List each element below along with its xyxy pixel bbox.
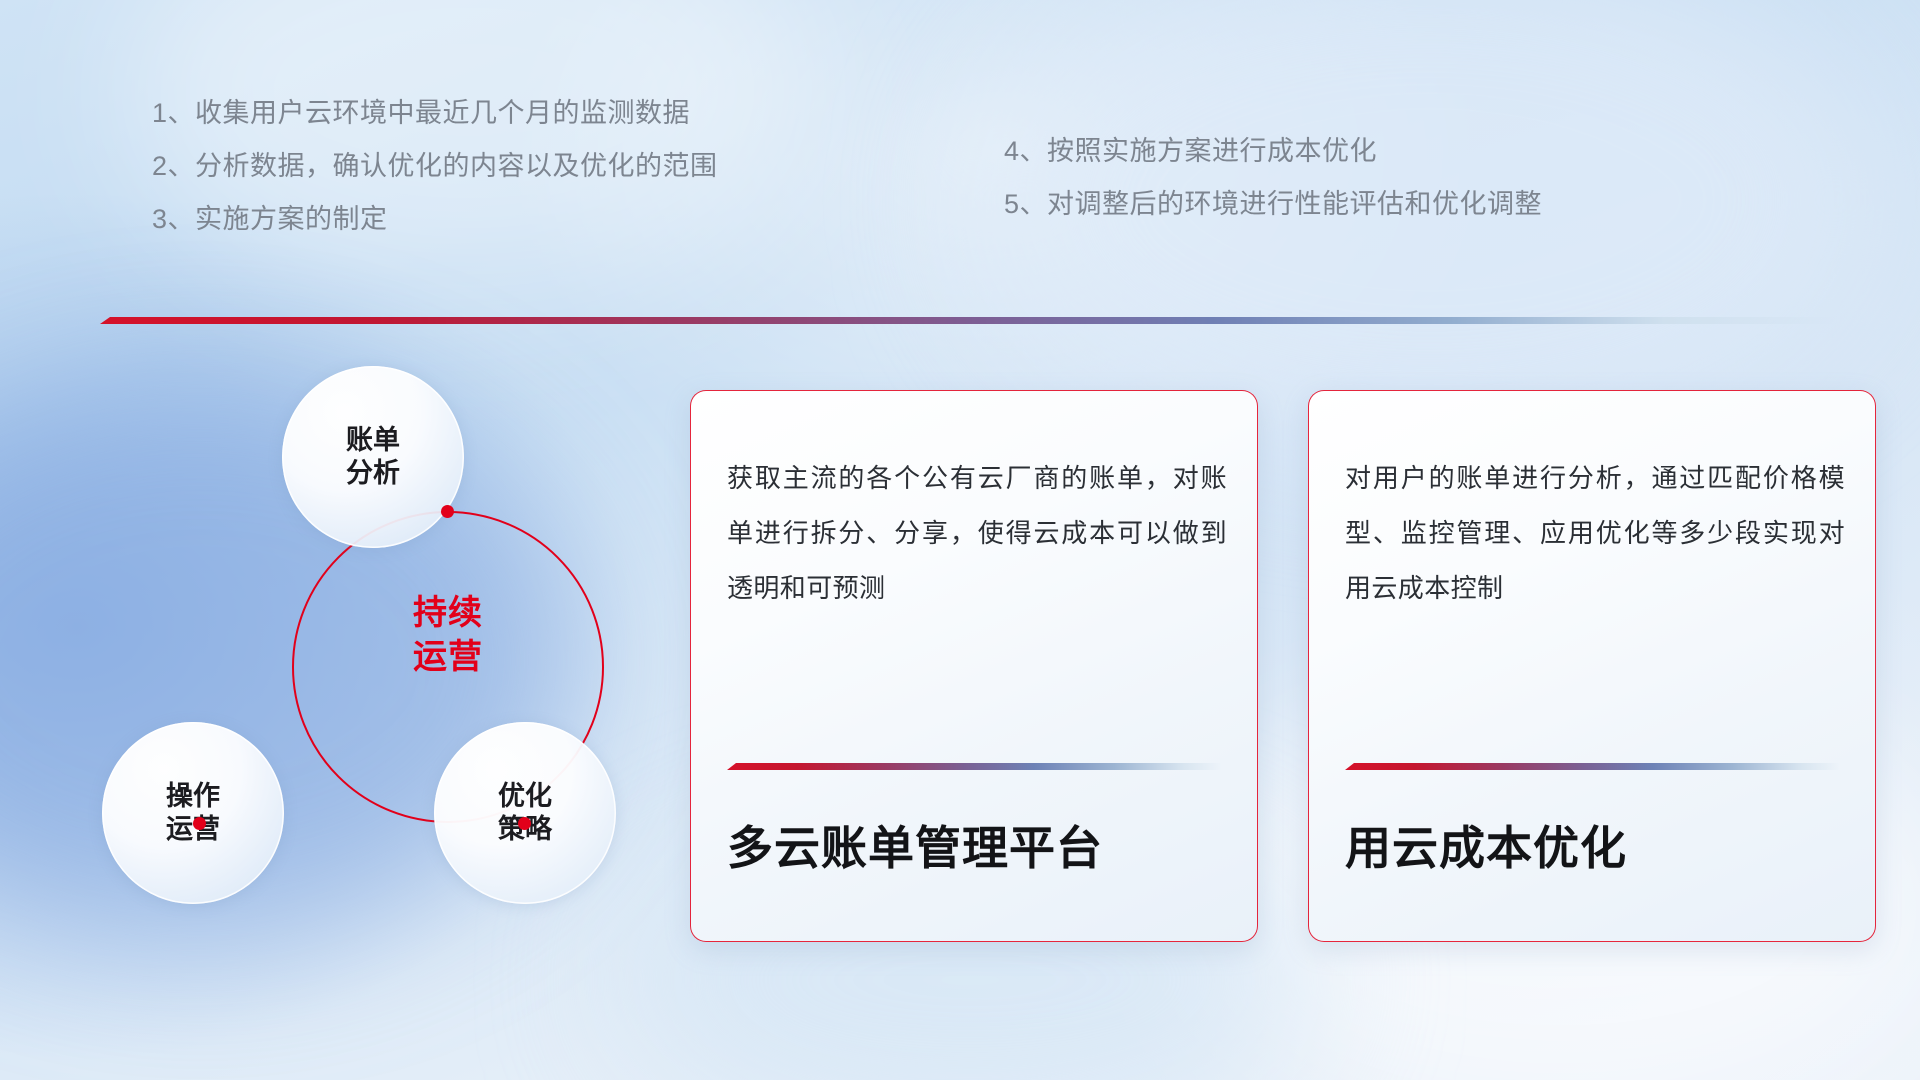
venn-bubble-line-1: 账单 [346,424,400,457]
venn-node-dot-bottom-right [518,817,531,830]
card-title: 多云账单管理平台 [727,821,1227,876]
step-item: 3、实施方案的制定 [152,206,718,233]
slide-canvas: 1、收集用户云环境中最近几个月的监测数据 2、分析数据，确认优化的内容以及优化的… [0,0,1920,1080]
venn-node-dot-bottom-left [193,817,206,830]
venn-bubble-line-1: 优化 [498,780,552,813]
card-title: 用云成本优化 [1345,821,1845,876]
card-body-text: 对用户的账单进行分析，通过匹配价格模型、监控管理、应用优化等多少段实现对用云成本… [1345,451,1845,616]
feature-card-multicloud-billing[interactable]: 获取主流的各个公有云厂商的账单，对账单进行拆分、分享，使得云成本可以做到透明和可… [690,390,1258,942]
step-item: 5、对调整后的环境进行性能评估和优化调整 [1004,191,1542,218]
card-divider [727,763,1223,770]
venn-bubble-line-1: 操作 [166,780,220,813]
steps-list: 1、收集用户云环境中最近几个月的监测数据 2、分析数据，确认优化的内容以及优化的… [0,100,1920,280]
venn-center-label: 持续 运营 [292,592,604,679]
header-divider [100,317,1838,324]
card-body-text: 获取主流的各个公有云厂商的账单，对账单进行拆分、分享，使得云成本可以做到透明和可… [727,451,1227,616]
step-item: 4、按照实施方案进行成本优化 [1004,138,1542,165]
venn-center-line-1: 持续 [292,592,604,636]
venn-bubble-optimization-strategy[interactable]: 优化 策略 [434,722,616,904]
venn-bubble-line-2: 分析 [346,457,400,490]
card-divider [1345,763,1841,770]
steps-column-left: 1、收集用户云环境中最近几个月的监测数据 2、分析数据，确认优化的内容以及优化的… [152,100,718,259]
venn-diagram: 持续 运营 账单 分析 操作 运营 优化 策略 [96,350,656,950]
steps-column-right: 4、按照实施方案进行成本优化 5、对调整后的环境进行性能评估和优化调整 [1004,138,1542,244]
venn-bubble-operations[interactable]: 操作 运营 [102,722,284,904]
venn-center-line-2: 运营 [292,636,604,680]
step-item: 2、分析数据，确认优化的内容以及优化的范围 [152,153,718,180]
feature-card-cloud-cost-optimization[interactable]: 对用户的账单进行分析，通过匹配价格模型、监控管理、应用优化等多少段实现对用云成本… [1308,390,1876,942]
venn-bubble-bill-analysis[interactable]: 账单 分析 [282,366,464,548]
venn-bubble-line-2: 运营 [166,813,220,846]
venn-node-dot-top [441,505,454,518]
step-item: 1、收集用户云环境中最近几个月的监测数据 [152,100,718,127]
